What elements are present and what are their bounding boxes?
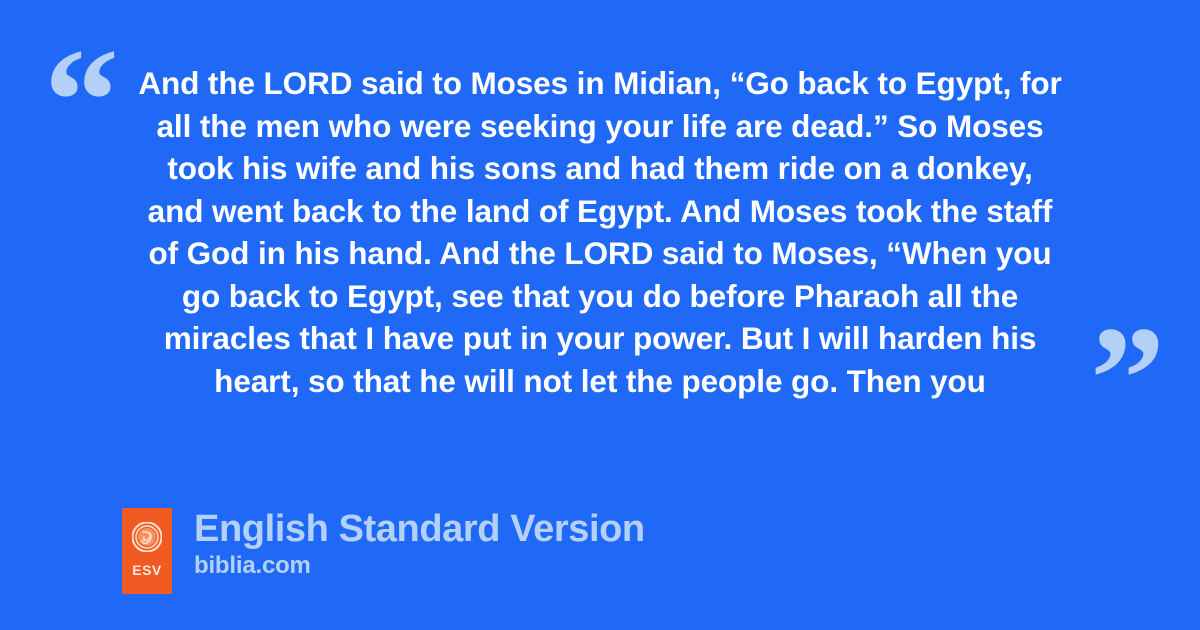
- verse-line: all the men who were seeking your life a…: [100, 105, 1100, 148]
- attribution: ESV English Standard Version biblia.com: [122, 508, 645, 594]
- site-url-label: biblia.com: [194, 553, 645, 579]
- verse-line: took his wife and his sons and had them …: [100, 147, 1100, 190]
- verse-line: And the LORD said to Moses in Midian, “G…: [100, 62, 1100, 105]
- esv-abbreviation-label: ESV: [122, 562, 172, 578]
- close-quote-icon: ”: [1090, 304, 1163, 454]
- esv-seal-icon: [132, 522, 162, 552]
- verse-line: and went back to the land of Egypt. And …: [100, 190, 1100, 233]
- attribution-text-block: English Standard Version biblia.com: [194, 508, 645, 579]
- verse-line: miracles that I have put in your power. …: [100, 317, 1100, 360]
- verse-line: go back to Egypt, see that you do before…: [100, 275, 1100, 318]
- verse-quote-text: And the LORD said to Moses in Midian, “G…: [100, 62, 1100, 402]
- bible-version-name: English Standard Version: [194, 508, 645, 550]
- esv-logo: ESV: [122, 508, 172, 594]
- verse-line: heart, so that he will not let the peopl…: [100, 360, 1100, 403]
- bible-verse-card: “ And the LORD said to Moses in Midian, …: [0, 0, 1200, 630]
- verse-line: of God in his hand. And the LORD said to…: [100, 232, 1100, 275]
